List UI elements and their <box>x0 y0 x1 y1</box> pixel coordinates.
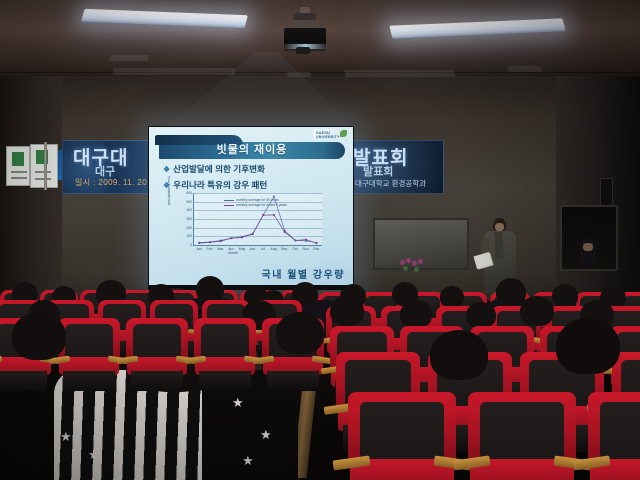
chart-data-point <box>273 196 275 198</box>
audience-head <box>430 330 488 380</box>
seat[interactable] <box>468 392 576 480</box>
chart-data-point <box>198 242 200 244</box>
star-motif-icon: ★ <box>232 396 244 409</box>
chart-data-point <box>284 231 286 233</box>
seat[interactable] <box>194 318 256 388</box>
ceiling-vent <box>344 70 455 77</box>
lecture-hall-scene: 대구대 대구 일시 : 2009. 11. 20 발표회 발표회 대구대학교 환… <box>0 0 640 480</box>
slide-title-bar: 빗물의 재이용 <box>159 142 345 159</box>
seat[interactable] <box>126 318 188 388</box>
chart-plot-area: monthly average for 30 years monthly ave… <box>193 193 322 246</box>
chart-data-point <box>241 236 243 238</box>
chart-y-axis-label: precipitation (mm) <box>167 176 171 205</box>
flower-arrangement <box>398 258 426 274</box>
audience-head <box>556 318 620 374</box>
poster-text-line <box>35 178 51 180</box>
seat[interactable] <box>348 392 456 480</box>
chart-x-tick: Mar. <box>217 247 224 251</box>
chart-y-tick: 300 <box>186 217 192 221</box>
chart-data-point <box>252 233 254 235</box>
chart-data-point <box>305 239 307 241</box>
ceiling-vent <box>287 72 311 77</box>
person-in-doorway <box>580 239 596 263</box>
star-motif-icon: ★ <box>60 430 72 443</box>
seat[interactable] <box>58 318 120 388</box>
seat-base <box>63 371 115 391</box>
logo-mark-icon <box>340 130 347 137</box>
audience-head <box>330 296 364 326</box>
star-motif-icon: ★ <box>260 428 272 441</box>
precipitation-chart: precipitation (mm) monthly average for 3… <box>169 189 339 261</box>
chart-data-point <box>273 214 275 216</box>
rear-doorway <box>560 205 618 271</box>
chart-x-tick: Jan. <box>196 247 203 251</box>
university-logo-icon: DAEGU UNIVERSITY <box>313 129 349 138</box>
chart-y-tick: 200 <box>186 226 192 230</box>
bullet-marker-icon: ❖ <box>163 165 170 174</box>
ceiling-vent <box>112 68 235 75</box>
ceiling-vent <box>507 66 542 72</box>
chart-x-axis-label: month <box>228 251 238 255</box>
slide-caption: 국내 월별 강우량 <box>262 266 345 281</box>
banner-subtitle-right: 발표회 <box>363 163 393 179</box>
seat-base <box>0 371 47 391</box>
poster-graphic <box>12 152 24 166</box>
chart-data-point <box>294 240 296 242</box>
chart-x-tick: Jun. <box>249 247 256 251</box>
audience-head <box>276 312 324 354</box>
audience-head <box>12 312 66 360</box>
poster-text-line <box>11 177 27 179</box>
chart-x-tick: Oct. <box>292 247 298 251</box>
star-motif-icon: ★ <box>242 454 254 467</box>
chart-x-tick: Dec. <box>313 247 320 251</box>
chart-data-point <box>209 242 211 244</box>
chart-y-tick: 500 <box>186 200 192 204</box>
chart-x-tick: Jul. <box>261 247 266 251</box>
chart-data-point <box>220 240 222 242</box>
chart-x-tick: May <box>239 247 246 251</box>
chart-series-layer <box>194 193 322 245</box>
poster-text-line <box>35 171 51 173</box>
ceiling-vent <box>109 55 149 61</box>
chart-data-point <box>230 237 232 239</box>
chart-line-monthly-average-for-30-years <box>199 196 316 242</box>
chart-data-point <box>316 242 318 244</box>
star-motif-icon: ★ <box>88 448 100 461</box>
slide-title: 빗물의 재이용 <box>159 142 345 159</box>
chart-x-tick: Sep. <box>281 247 288 251</box>
presentation-slide: DAEGU UNIVERSITY 빗물의 재이용 ❖산업발달에 의한 기후변화 … <box>149 127 353 285</box>
seat-base <box>131 371 183 391</box>
ceiling-seam <box>0 72 640 73</box>
chart-y-tick: 100 <box>186 234 192 238</box>
chart-x-tick: Nov. <box>303 247 310 251</box>
projector-lens-icon <box>296 47 310 54</box>
audience-head <box>496 278 526 306</box>
chart-x-tick: Feb. <box>206 247 213 251</box>
audience-head <box>520 296 554 326</box>
presenter-lapel <box>494 232 503 258</box>
presenter-face <box>495 223 504 231</box>
chart-y-tick: 400 <box>186 208 192 212</box>
chart-data-point <box>262 214 264 216</box>
bullet-text: 산업발달에 의한 기후변화 <box>173 164 265 174</box>
wall-pipe <box>44 142 47 190</box>
audience-head <box>552 284 578 308</box>
poster-text-line <box>11 171 27 173</box>
chart-y-tick: 600 <box>186 191 192 195</box>
slide-bullet-item: ❖산업발달에 의한 기후변화 <box>163 163 343 175</box>
chart-y-tick: 0 <box>190 243 192 247</box>
chart-line-monthly-average-for-recent-5-years <box>199 215 316 243</box>
audience-head <box>466 302 496 328</box>
seat-base <box>199 371 251 391</box>
banner-date: 일시 : 2009. 11. 20 <box>75 177 147 188</box>
wall-poster <box>6 146 30 186</box>
chart-x-tick: Aug. <box>270 247 277 251</box>
seat-base <box>267 371 319 391</box>
audience-head <box>400 300 432 328</box>
chart-gridline <box>194 245 322 246</box>
wall-speaker <box>600 178 613 207</box>
audience-head <box>440 286 464 308</box>
banner-department: 대구대학교 환경공학과 <box>355 178 426 189</box>
seat[interactable] <box>588 392 640 480</box>
